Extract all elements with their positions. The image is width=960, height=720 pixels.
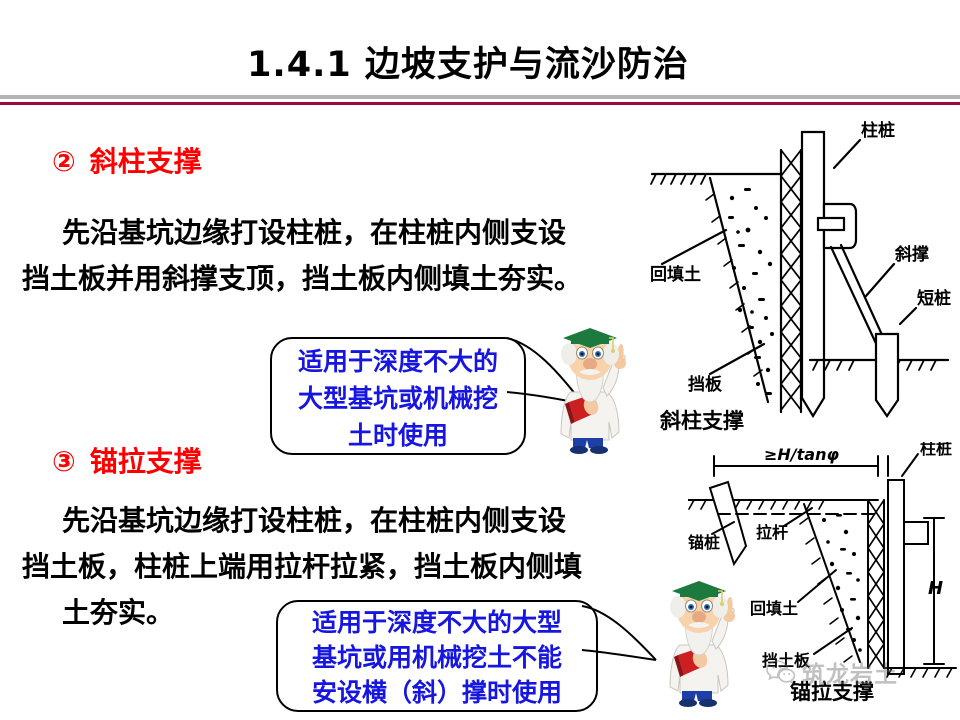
callout-line: 适用于深度不大的大型 [278,605,596,640]
callout-line: 适用于深度不大的 [272,343,524,380]
diagram-caption-2: 锚拉支撑 [790,676,874,706]
callout-line: 大型基坑或机械挖 [272,380,524,417]
section-title-2: 斜柱支撑 [90,145,202,178]
header-divider-gray [0,95,960,99]
paragraph-line: 先沿基坑边缘打设柱桩，在柱桩内侧支设 [22,210,582,256]
label-short-pile: 短桩 [917,288,951,309]
diagram-inclined-column-support: 柱桩 回填土 挡板 斜撑 短桩 [648,112,960,432]
professor-illustration-2 [658,575,742,707]
page-title: 1.4.1 边坡支护与流沙防治 [0,36,960,87]
slide-canvas: 1.4.1 边坡支护与流沙防治 ②斜柱支撑 先沿基坑边缘打设柱桩，在柱桩内侧支设… [0,0,960,720]
diagram-caption-1: 斜柱支撑 [660,405,744,435]
section-number-2: ② [52,145,76,178]
professor-illustration-1 [549,322,633,454]
label-column-pile-2: 柱桩 [920,442,952,458]
label-board: 挡板 [688,374,723,395]
section-paragraph-2: 先沿基坑边缘打设柱桩，在柱桩内侧支设 挡土板并用斜撑支顶，挡土板内侧填土夯实。 [22,210,582,302]
label-height: H [928,578,943,599]
section-heading-3: ③锚拉支撑 [52,440,202,480]
section-title-3: 锚拉支撑 [90,445,202,478]
label-backfill-2: 回填土 [750,599,798,618]
paragraph-line: 挡土板并用斜撑支顶，挡土板内侧填土夯实。 [22,256,582,302]
callout-line: 基坑或用机械挖土不能 [278,640,596,675]
paragraph-line: 先沿基坑边缘打设柱桩，在柱桩内侧支设 [22,498,582,544]
label-dimension: ≥H/tanφ [764,445,839,464]
label-retaining-plate: 挡土板 [762,651,811,670]
callout-bubble-2: 适用于深度不大的大型 基坑或用机械挖土不能 安设横（斜）撑时使用 [276,600,598,712]
callout-tail-2 [580,590,670,700]
callout-bubble-1: 适用于深度不大的 大型基坑或机械挖 土时使用 [270,337,526,455]
paragraph-line: 挡土板，柱桩上端用拉杆拉紧，挡土板内侧填 [22,544,582,590]
section-number-3: ③ [52,445,76,478]
label-backfill: 回填土 [650,264,701,285]
label-anchor-pile: 锚桩 [688,533,720,552]
label-column-pile: 柱桩 [861,120,895,141]
page-title-text: 1.4.1 边坡支护与流沙防治 [247,36,689,87]
label-brace: 斜撑 [894,244,929,265]
section-heading-2: ②斜柱支撑 [52,140,202,180]
label-tie-rod: 拉杆 [756,523,788,542]
header-divider-maroon [0,102,960,105]
callout-line: 安设横（斜）撑时使用 [278,675,596,710]
callout-line: 土时使用 [272,417,524,454]
